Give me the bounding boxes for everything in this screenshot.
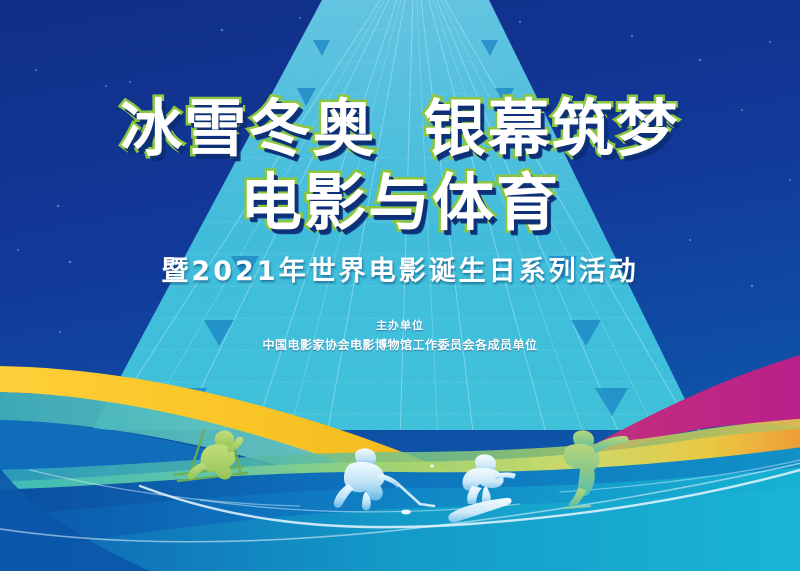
field-spark bbox=[430, 464, 433, 467]
organizer-name: 中国电影家协会电影博物馆工作委员会各成员单位 bbox=[0, 336, 800, 353]
hockey-puck-icon bbox=[401, 510, 411, 515]
poster-title-line-2: 电影与体育 bbox=[0, 172, 800, 234]
poster-subtitle: 暨2021年世界电影诞生日系列活动 bbox=[0, 249, 800, 288]
organizer-label: 主办单位 bbox=[0, 317, 800, 333]
poster-canvas: 冰雪冬奥 银幕筑梦 电影与体育 暨2021年世界电影诞生日系列活动 主办单位 中… bbox=[0, 0, 800, 571]
poster-title-line-1: 冰雪冬奥 银幕筑梦 bbox=[0, 98, 800, 160]
